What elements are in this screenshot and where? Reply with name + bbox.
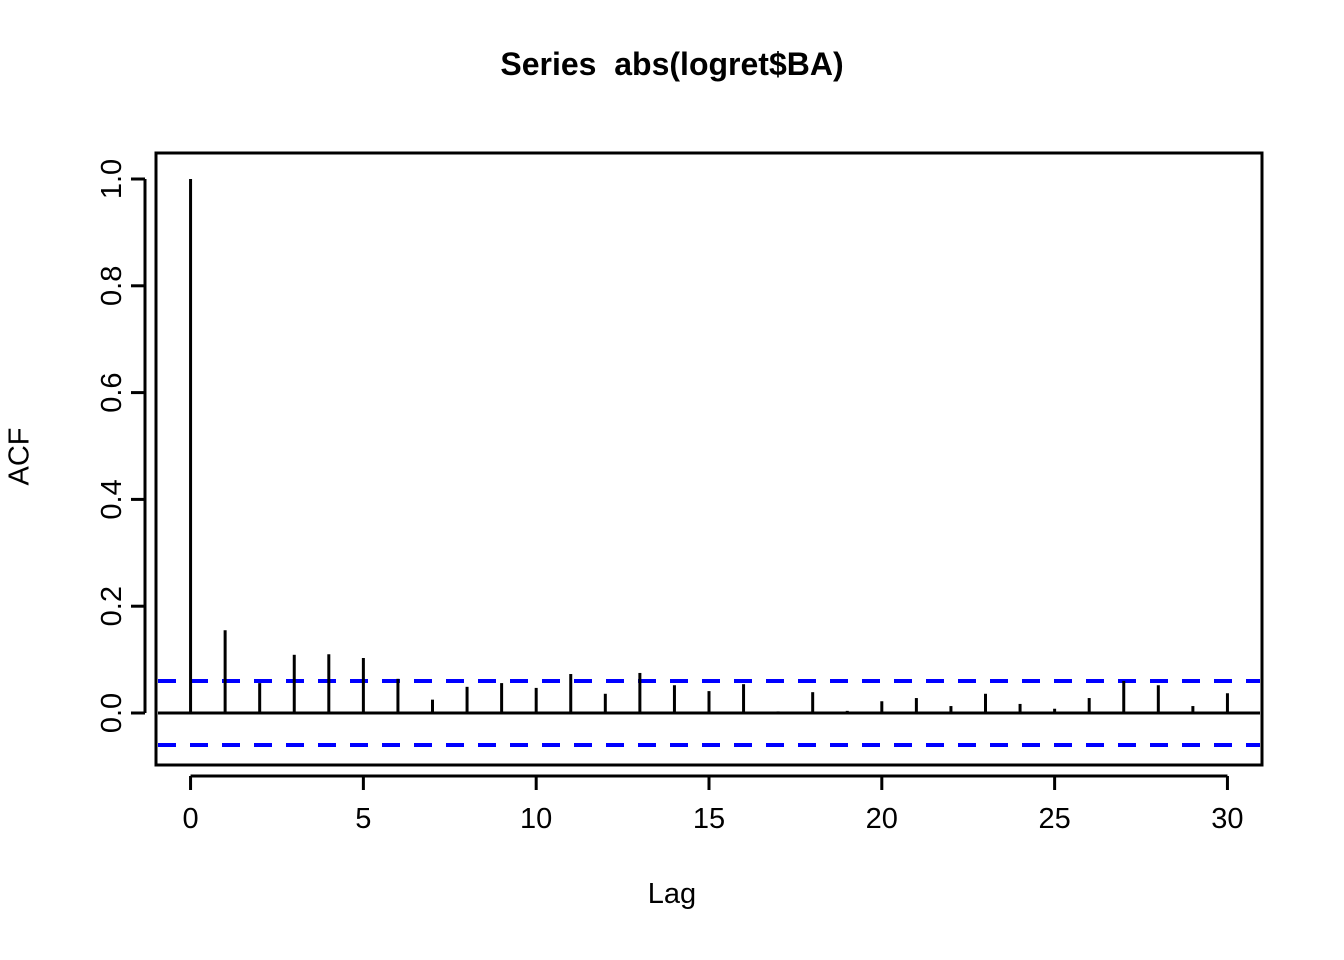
x-tick-label: 15 (693, 803, 725, 835)
acf-bars (158, 179, 1260, 713)
acf-chart-canvas: 0.00.20.40.60.81.0 051015202530 (0, 0, 1344, 960)
y-tick-label: 1.0 (96, 159, 128, 199)
x-tick-label: 25 (1038, 803, 1070, 835)
y-tick-label: 0.2 (96, 586, 128, 626)
y-tick-label: 0.4 (96, 479, 128, 519)
x-tick-label: 0 (182, 803, 198, 835)
y-tick-label: 0.6 (96, 372, 128, 412)
x-tick-label: 10 (520, 803, 552, 835)
y-tick-label: 0.8 (96, 266, 128, 306)
y-axis: 0.00.20.40.60.81.0 (96, 159, 145, 733)
acf-plot-root: Series abs(logret$BA) ACF Lag 0.00.20.40… (0, 0, 1344, 960)
x-axis: 051015202530 (182, 776, 1243, 835)
x-tick-label: 20 (866, 803, 898, 835)
x-tick-label: 5 (355, 803, 371, 835)
x-tick-label: 30 (1211, 803, 1243, 835)
y-tick-label: 0.0 (96, 693, 128, 733)
plot-frame (156, 153, 1262, 765)
